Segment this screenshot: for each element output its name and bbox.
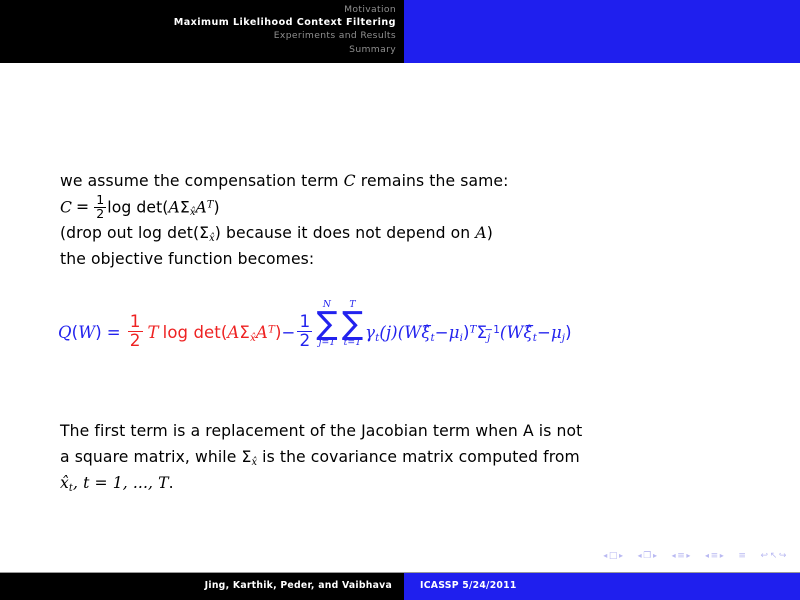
sigma-symbol-2: Σ — [199, 224, 209, 242]
section-next-icon[interactable]: ▸ — [720, 551, 726, 560]
fraction-denominator: 2 — [94, 207, 106, 221]
equals-sign: = — [76, 198, 89, 216]
fraction-numerator: 1 — [94, 194, 106, 207]
objective-function-equation: Q(W)=12Tlog det(AΣx̂AT)−12N∑j=1T∑t=1γt(j… — [58, 301, 800, 349]
eq-mu-j: μ — [551, 323, 562, 342]
footer-authors: Jing, Karthik, Peder, and Vaibhava — [0, 580, 392, 591]
footer-bar: Jing, Karthik, Peder, and Vaibhava ICASS… — [0, 573, 800, 600]
intro-line-3-text-a: (drop out — [60, 224, 138, 242]
eq-sum2-glyph: ∑ — [342, 310, 363, 339]
sigma-symbol: Σ — [180, 198, 190, 216]
subsection-next-icon[interactable]: ▸ — [686, 551, 692, 560]
frame-next-icon[interactable]: ▸ — [653, 551, 659, 560]
intro-line-3-close: ) — [487, 224, 493, 242]
outro-line-2-text-a: a square matrix, while — [60, 448, 242, 466]
one-half-fraction: 12 — [94, 194, 106, 220]
eq-sum1-lower-limit: j=1 — [316, 339, 337, 348]
eq-minus-sign: − — [282, 323, 296, 342]
eq-half2-numerator: 1 — [297, 313, 312, 331]
beamer-navigation-symbols[interactable]: ◂□▸◂❐▸◂≡▸◂≡▸≡↩↖↪ — [603, 548, 788, 561]
slide-body: we assume the compensation term C remain… — [0, 63, 800, 572]
eq-gamma-symbol: γ — [365, 323, 375, 342]
eq-W-symbol: W — [78, 323, 95, 342]
presentation-overview-icon[interactable]: ≡ — [738, 551, 747, 561]
eq-T-symbol: T — [148, 323, 159, 342]
header-navigation-bar: Motivation Maximum Likelihood Context Fi… — [0, 0, 800, 63]
back-icon[interactable]: ↩ — [761, 551, 770, 561]
intro-line-3-text-mid: ) because it does not depend on — [215, 224, 476, 242]
nav-item-experiments-and-results[interactable]: Experiments and Results — [0, 29, 396, 42]
slide-marker-icon[interactable]: □ — [609, 551, 619, 561]
intro-line-1-text-a: we assume the compensation term — [60, 172, 344, 190]
eq-Q-symbol: Q — [58, 323, 72, 342]
eq-half-denominator: 2 — [128, 331, 143, 350]
outro-paragraph: The first term is a replacement of the J… — [60, 418, 770, 496]
eq-sigma-x: Σ — [239, 323, 250, 342]
footer-conference-date: ICASSP 5/24/2011 — [420, 580, 517, 591]
eq-residual-2-close: ) — [565, 323, 572, 342]
frame-marker-icon[interactable]: ❐ — [643, 551, 653, 561]
eq-half-numerator: 1 — [128, 313, 143, 331]
intro-line-1-text-b: remains the same: — [356, 172, 509, 190]
slide-next-icon[interactable]: ▸ — [619, 551, 625, 560]
compensation-term-symbol: C — [344, 172, 356, 190]
subsection-marker-icon[interactable]: ≡ — [677, 551, 686, 561]
outro-xhat-symbol: x̂ — [60, 474, 69, 492]
section-navigation-list: Motivation Maximum Likelihood Context Fi… — [0, 3, 396, 56]
eq-A-transpose: T — [268, 324, 275, 336]
outro-line-2-text-b: is the covariance matrix computed from — [257, 448, 580, 466]
outro-line-1: The first term is a replacement of the J… — [60, 418, 770, 444]
eq-residual-term-2: (Wξ̂ — [500, 323, 533, 342]
intro-paragraph: we assume the compensation term C remain… — [60, 168, 760, 272]
eq-gamma-argument: (j) — [379, 323, 397, 342]
eq-A-symbol-2: A — [256, 323, 268, 342]
matrix-a-symbol-2: A — [195, 198, 206, 216]
search-icon[interactable]: ↖ — [770, 551, 779, 561]
c-symbol: C — [60, 198, 72, 216]
eq-residual-1-minus: − — [435, 323, 449, 342]
matrix-a-symbol-3: A — [475, 224, 486, 242]
intro-line-4: the objective function becomes: — [60, 246, 760, 272]
eq-sum1-glyph: ∑ — [316, 310, 337, 339]
eq-half2-denominator: 2 — [297, 331, 312, 350]
nav-item-motivation[interactable]: Motivation — [0, 3, 396, 16]
eq-summation-over-t: T∑t=1 — [342, 301, 363, 348]
slide-content: we assume the compensation term C remain… — [60, 168, 760, 272]
log-det-operator: log det( — [107, 198, 168, 216]
outro-index-range: , t = 1, ..., — [73, 474, 158, 492]
intro-line-3: (drop out log det(Σx̂) because it does n… — [60, 220, 760, 246]
eq-residual-term-1: (Wξ̂ — [398, 323, 431, 342]
forward-icon[interactable]: ↪ — [779, 551, 788, 561]
eq-mu-i: μ — [449, 323, 460, 342]
eq-paren-close: ) — [95, 323, 102, 342]
matrix-a-symbol: A — [168, 198, 179, 216]
nav-item-summary[interactable]: Summary — [0, 43, 396, 56]
outro-sigma-symbol: Σ — [242, 448, 252, 466]
log-det-operator-2: log det( — [138, 224, 199, 242]
intro-line-2-equation: C=12log det(AΣx̂AT) — [60, 194, 760, 220]
eq-equals-sign: = — [107, 323, 121, 342]
section-marker-icon[interactable]: ≡ — [711, 551, 720, 561]
eq-residual-1-transpose: T — [470, 324, 477, 336]
outro-T-symbol: T — [158, 474, 169, 492]
closing-paren: ) — [213, 198, 219, 216]
nav-item-maximum-likelihood-context-filtering[interactable]: Maximum Likelihood Context Filtering — [0, 16, 396, 29]
eq-sum2-lower-limit: t=1 — [342, 339, 363, 348]
eq-log-det: log det( — [163, 323, 228, 342]
outro-period: . — [169, 474, 174, 492]
eq-one-half-first: 12 — [128, 313, 143, 349]
eq-one-half-second: 12 — [297, 313, 312, 349]
eq-summation-over-j: N∑j=1 — [316, 301, 337, 348]
eq-A-symbol-1: A — [227, 323, 239, 342]
intro-line-1: we assume the compensation term C remain… — [60, 168, 760, 194]
eq-sigma-inverse-superscript: −1 — [484, 324, 500, 336]
outro-line-2: a square matrix, while Σx̂ is the covari… — [60, 444, 770, 470]
outro-line-3: x̂t, t = 1, ..., T. — [60, 470, 770, 496]
eq-residual-2-minus: − — [537, 323, 551, 342]
